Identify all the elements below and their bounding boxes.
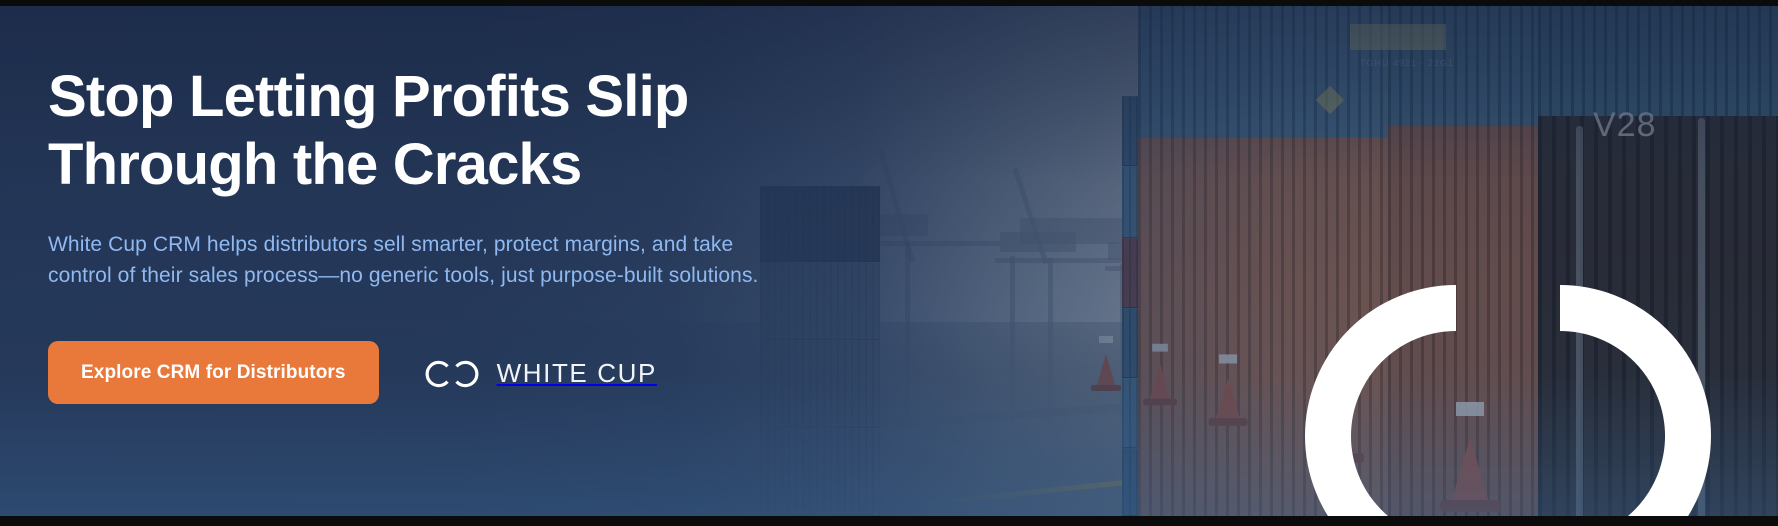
hero-content: Stop Letting Profits Slip Through the Cr… [0,6,900,516]
frame-top-bar [0,0,1778,6]
page-title: Stop Letting Profits Slip Through the Cr… [48,63,808,199]
subheadline-line-2: control of their sales process—no generi… [48,260,858,291]
white-cup-logo-link[interactable]: WHITE CUP [423,358,657,390]
hero-cta-row: Explore CRM for Distributors WHITE CUP [48,341,657,404]
subheadline-line-1: White Cup CRM helps distributors sell sm… [48,233,733,256]
frame-bottom-bar [0,516,1778,526]
headline-line-2: Through the Cracks [48,131,808,199]
hero-banner: TGHU 4921 · 22G1 V28 [0,6,1778,516]
hero-subheadline: White Cup CRM helps distributors sell sm… [48,229,858,291]
white-cup-interlocking-c-icon [423,358,481,390]
white-cup-wordmark: WHITE CUP [497,358,657,389]
explore-crm-button[interactable]: Explore CRM for Distributors [48,341,379,404]
headline-line-1: Stop Letting Profits Slip [48,64,689,129]
hero-banner-page: TGHU 4921 · 22G1 V28 [0,0,1778,526]
